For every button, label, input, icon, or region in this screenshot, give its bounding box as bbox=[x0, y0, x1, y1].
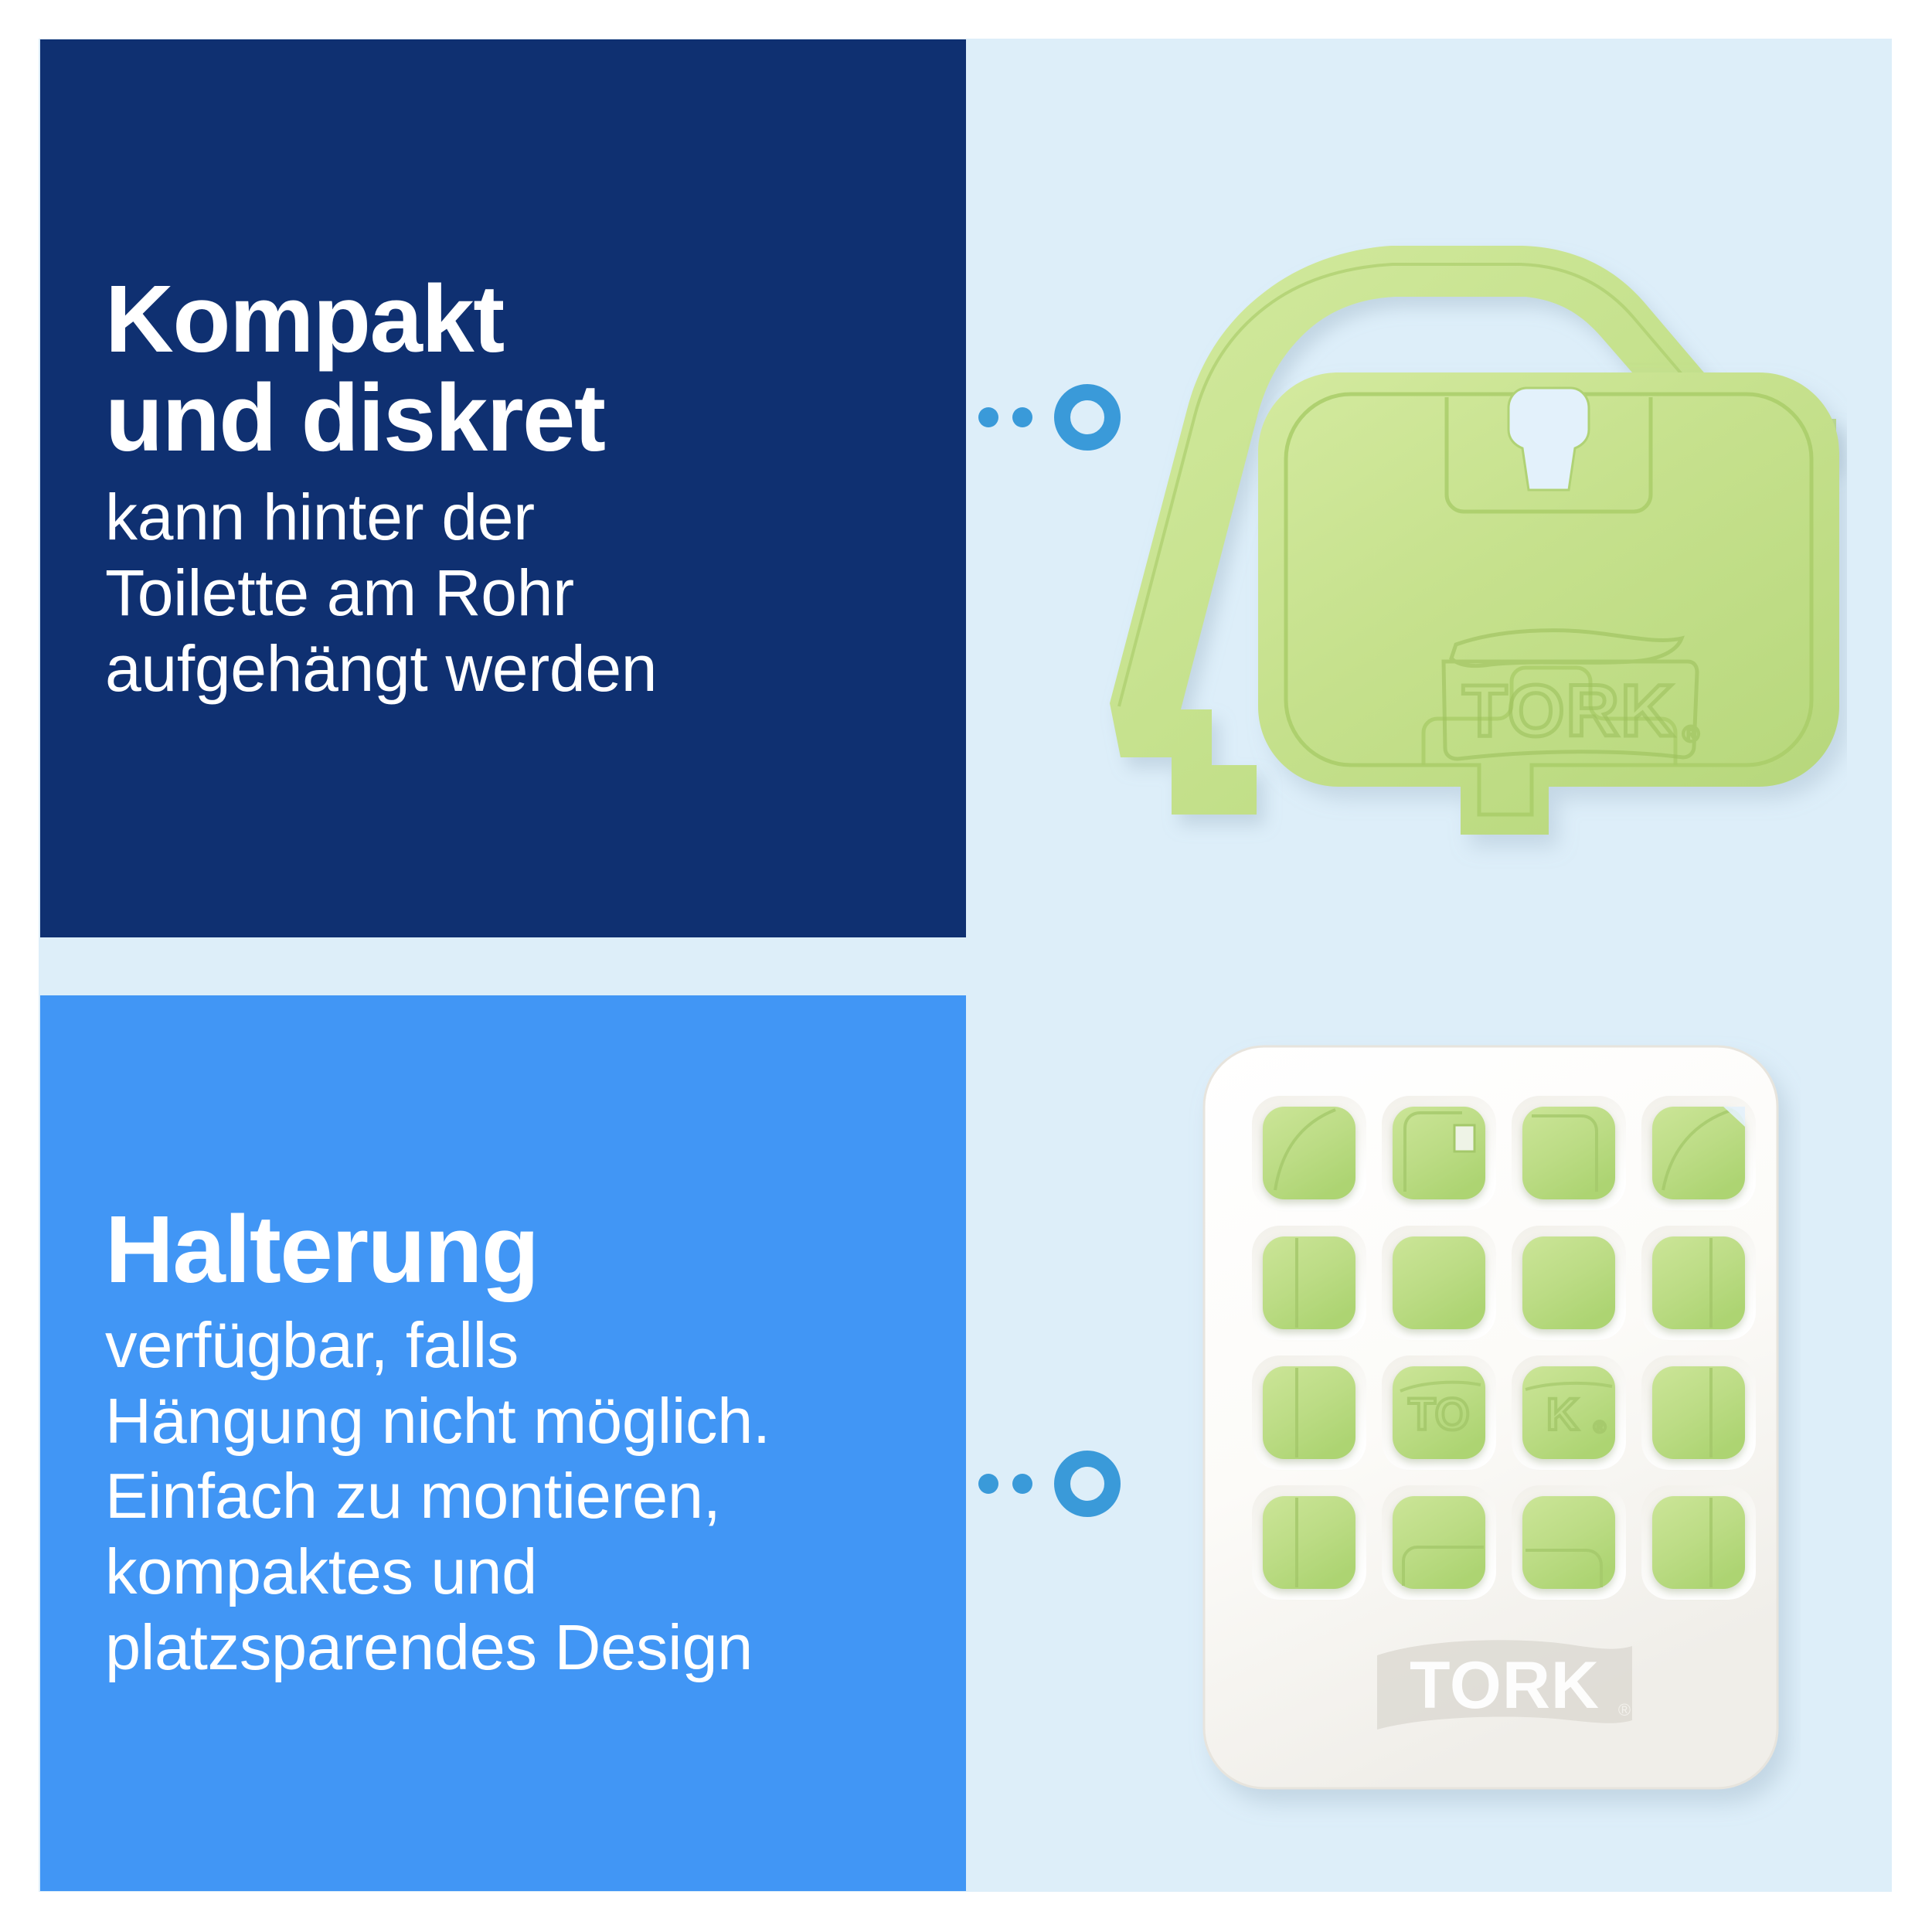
holder-window-cell bbox=[1512, 1226, 1626, 1340]
holder-window-cell bbox=[1252, 1355, 1366, 1470]
holder-window-cell bbox=[1512, 1485, 1626, 1600]
product-image-wall-holder: TO K ® bbox=[1182, 1028, 1801, 1847]
holder-window-cell bbox=[1641, 1096, 1756, 1210]
connector-dot-small-icon bbox=[978, 407, 998, 427]
holder-window-cell bbox=[1641, 1226, 1756, 1340]
connector-ring-icon bbox=[1054, 1451, 1121, 1517]
holder-window-cell bbox=[1641, 1355, 1756, 1470]
panel-holder-body: verfügbar, falls Hängung nicht möglich. … bbox=[105, 1308, 920, 1686]
holder-window-cell bbox=[1252, 1485, 1366, 1600]
holder-window-cell bbox=[1641, 1485, 1756, 1600]
infographic-canvas: Kompakt und diskret kann hinter der Toil… bbox=[0, 0, 1932, 1932]
product-image-air-freshener: TORK ® bbox=[1028, 131, 1847, 927]
holder-window-cell bbox=[1252, 1096, 1366, 1210]
holder-window-cell: K ® bbox=[1512, 1355, 1626, 1470]
svg-text:®: ® bbox=[1682, 722, 1699, 747]
panel-compact-headline: Kompakt und diskret bbox=[105, 270, 900, 468]
panel-compact-and-discreet: Kompakt und diskret kann hinter der Toil… bbox=[40, 39, 966, 937]
svg-text:®: ® bbox=[1618, 1700, 1631, 1719]
holder-window-cell bbox=[1382, 1096, 1496, 1210]
svg-text:TO: TO bbox=[1408, 1389, 1470, 1440]
svg-text:K: K bbox=[1546, 1389, 1579, 1440]
holder-window-cell bbox=[1252, 1226, 1366, 1340]
svg-text:®: ® bbox=[1594, 1417, 1606, 1437]
holder-window-cell bbox=[1382, 1226, 1496, 1340]
connector-dot-small-icon bbox=[1012, 1474, 1032, 1494]
connector-dot-small-icon bbox=[978, 1474, 998, 1494]
connector-bottom bbox=[978, 1451, 1121, 1517]
freshener-plate-shape: TORK ® bbox=[1258, 372, 1839, 835]
svg-text:TORK: TORK bbox=[1462, 670, 1675, 752]
holder-window-cell bbox=[1512, 1096, 1626, 1210]
tork-logo-printed-icon: TORK ® bbox=[1377, 1640, 1632, 1730]
panel-holder-headline: Halterung bbox=[105, 1201, 920, 1300]
holder-window-cell bbox=[1382, 1485, 1496, 1600]
svg-text:TORK: TORK bbox=[1410, 1648, 1600, 1723]
holder-window-cell: TO bbox=[1382, 1355, 1496, 1470]
panel-compact-body: kann hinter der Toilette am Rohr aufgehä… bbox=[105, 479, 900, 707]
panel-holder: Halterung verfügbar, falls Hängung nicht… bbox=[40, 995, 966, 1891]
